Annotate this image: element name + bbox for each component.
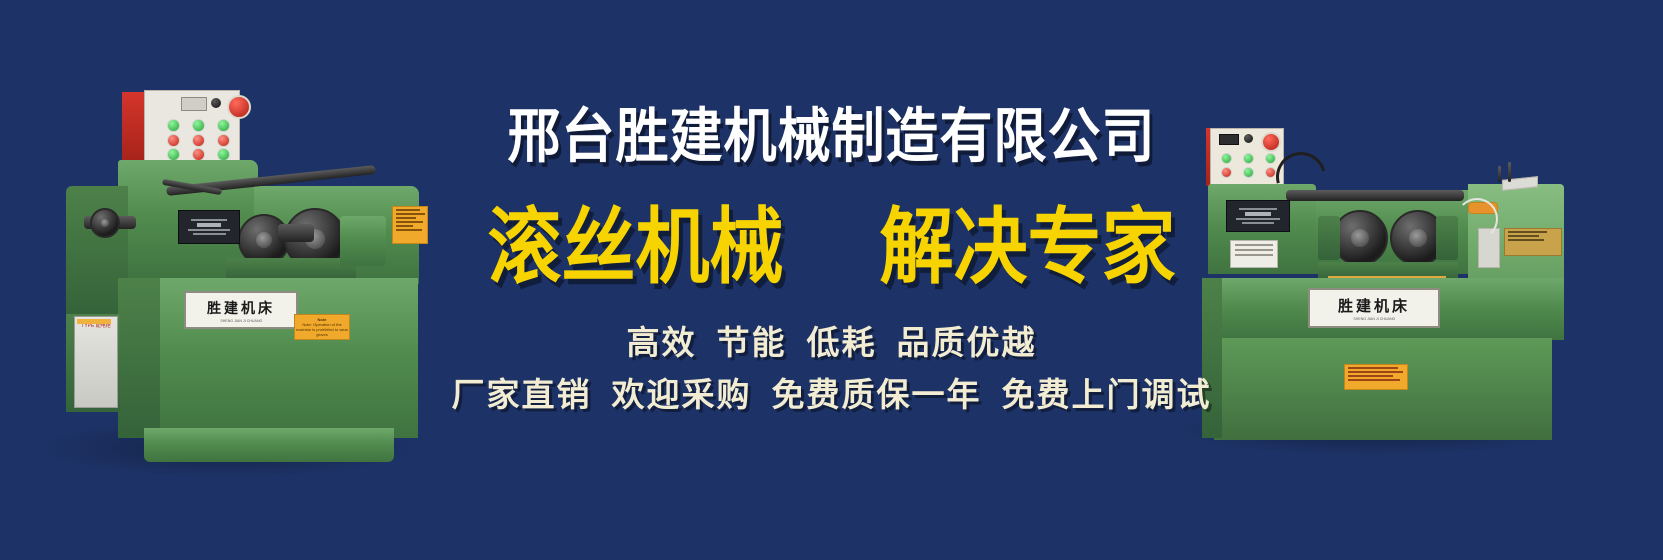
subline-2-part-3: 免费质保一年 [772, 375, 982, 414]
roller-die-1 [1332, 210, 1388, 266]
button-red-1 [167, 134, 180, 147]
button-red-2 [192, 134, 205, 147]
thread-rolling-machine-left: 胜建机床 SHENG JIAN JI CHUANG Note Note: Ope… [26, 88, 426, 470]
control-panel [1210, 128, 1284, 188]
brand-nameplate: 胜建机床 SHENG JIAN JI CHUANG [1308, 288, 1440, 328]
button-green-1 [1221, 153, 1232, 164]
button-red-1 [1221, 167, 1232, 178]
brand-nameplate-cn: 胜建机床 [1338, 295, 1410, 316]
roller-slide-left [1318, 216, 1340, 260]
electrical-cabinet: TYPE 配电柜 [74, 316, 118, 408]
headline-left: 滚丝机械 [488, 199, 784, 295]
selector-knob-icon [1244, 134, 1253, 143]
emergency-stop-icon [227, 95, 251, 119]
control-panel [144, 90, 240, 162]
subline-1-part-3: 低耗 [807, 323, 877, 362]
machine-base-left-face [118, 278, 160, 438]
info-plate [1230, 240, 1278, 268]
work-piece [278, 224, 314, 242]
thread-rolling-machine-right: 胜建机床 SHENG JIAN JI CHUANG [1168, 128, 1568, 450]
button-green-4 [1243, 167, 1254, 178]
button-green-2 [192, 119, 205, 132]
button-green-3 [217, 119, 230, 132]
tailstock [340, 216, 386, 266]
button-red-3 [217, 134, 230, 147]
button-green-2 [1243, 153, 1254, 164]
subline-1-part-1: 高效 [627, 323, 697, 362]
brand-nameplate: 胜建机床 SHENG JIAN JI CHUANG [184, 291, 298, 329]
button-green-1 [167, 119, 180, 132]
display-meter-icon [181, 97, 207, 111]
roller-support-base [226, 258, 356, 280]
brand-nameplate-en: SHENG JIAN JI CHUANG [220, 318, 262, 323]
side-plate [1504, 228, 1562, 256]
spec-plate [178, 210, 240, 244]
drive-coupling [90, 208, 120, 238]
warning-plate-right [392, 206, 428, 244]
subline-1-part-2: 节能 [717, 323, 787, 362]
control-panel-red-side [122, 92, 144, 164]
glove-warning-text: Note: Operation of the machine is prohib… [295, 322, 349, 337]
selector-knob-icon [211, 98, 221, 108]
feed-bar [1286, 190, 1464, 201]
machine-plinth [144, 428, 394, 462]
headline-right: 解决专家 [880, 199, 1176, 295]
promo-banner: 胜建机床 SHENG JIAN JI CHUANG Note Note: Ope… [0, 0, 1663, 560]
air-tube [1456, 198, 1498, 240]
emergency-stop-icon [1261, 132, 1281, 152]
machine-base-left-face [1202, 278, 1222, 438]
brand-nameplate-cn: 胜建机床 [207, 298, 275, 318]
glove-warning-label: Note Note: Operation of the machine is p… [294, 314, 350, 340]
subline-2-part-2: 欢迎采购 [612, 375, 752, 414]
subline-2-part-1: 厂家直销 [452, 375, 592, 414]
button-red-2 [1265, 167, 1276, 178]
brand-nameplate-en: SHENG JIAN JI CHUANG [1353, 316, 1395, 321]
display-meter-icon [1219, 134, 1239, 145]
spec-plate [1226, 200, 1290, 232]
button-green-3 [1265, 153, 1276, 164]
subline-1-part-4: 品质优越 [897, 323, 1037, 362]
feeder-post-1 [1498, 166, 1501, 182]
roller-slide-right [1436, 216, 1458, 260]
bottom-warning-label [1344, 364, 1408, 390]
feeder-post-2 [1508, 162, 1511, 182]
